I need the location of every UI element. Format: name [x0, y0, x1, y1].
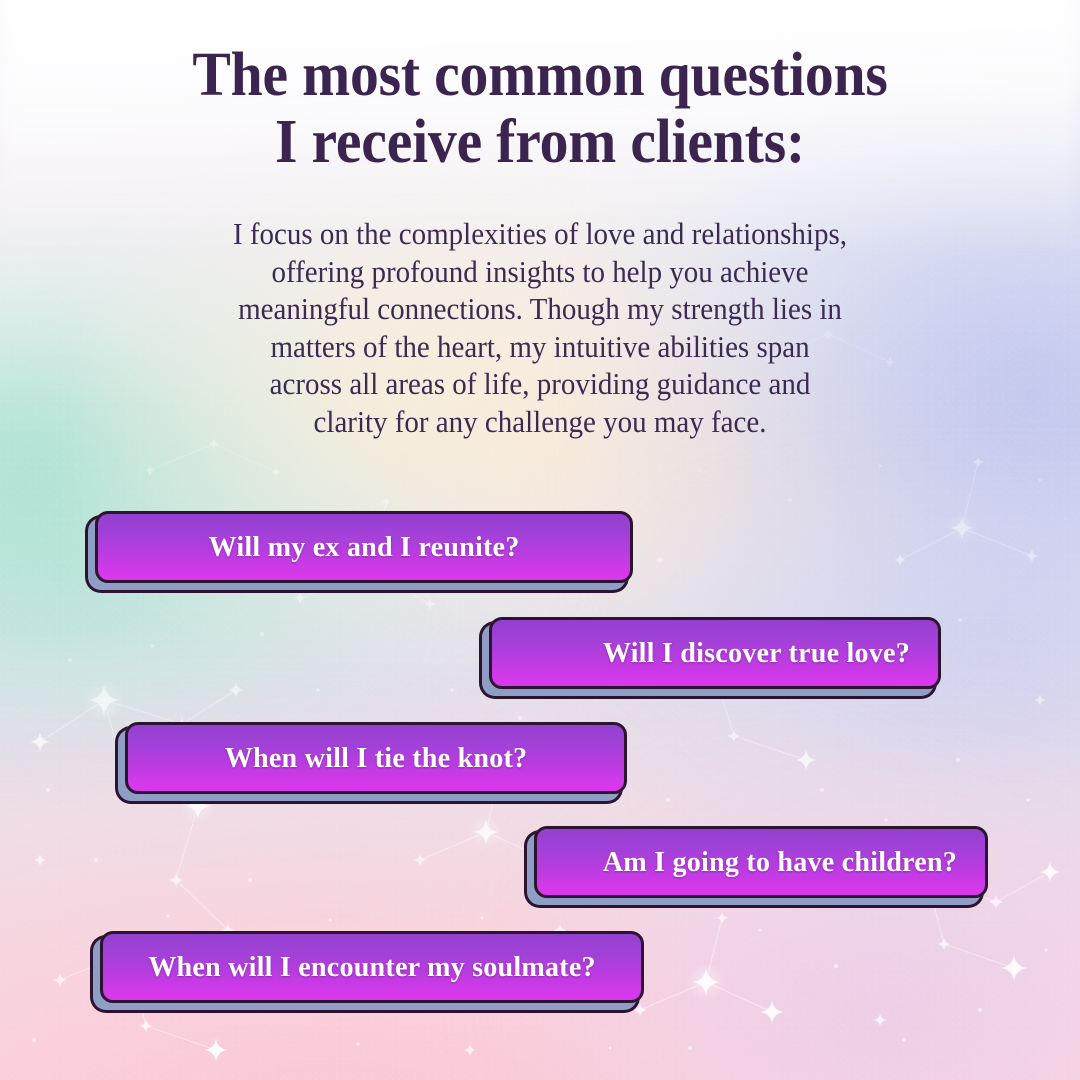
question-button-tie-the-knot[interactable]: When will I tie the knot? [125, 722, 627, 794]
poster-content: The most common questions I receive from… [0, 0, 1080, 1080]
poster-canvas: The most common questions I receive from… [0, 0, 1080, 1080]
question-button-list: Will my ex and I reunite? Will I discove… [0, 0, 1080, 1080]
question-button-label: When will I encounter my soulmate? [111, 951, 633, 984]
question-button-true-love[interactable]: Will I discover true love? [489, 617, 941, 689]
question-button-label: Am I going to have children? [550, 846, 957, 879]
question-button-label: Will my ex and I reunite? [106, 531, 622, 564]
question-button-soulmate[interactable]: When will I encounter my soulmate? [100, 931, 644, 1003]
question-button-children[interactable]: Am I going to have children? [534, 826, 988, 898]
question-button-label: When will I tie the knot? [135, 742, 616, 775]
question-button-reunite[interactable]: Will my ex and I reunite? [95, 511, 633, 583]
question-button-label: Will I discover true love? [505, 637, 910, 670]
